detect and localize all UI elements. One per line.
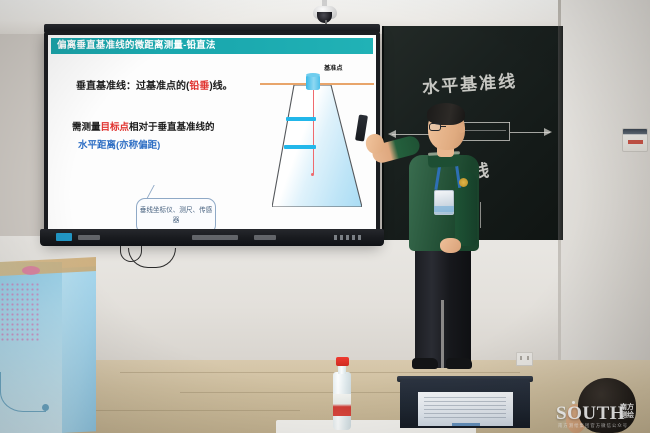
presenter-hair [427,103,465,125]
measure-suffix: 相对于垂直基准线的 [129,122,215,133]
watermark-accent-dot [572,401,575,404]
poster-dot-pattern [0,282,40,342]
watermark: SOUTH 南方 测绘 南方测绘集团官方微信公众号 [556,400,648,430]
right-wall [560,0,650,368]
chalk-sketch-line [480,202,481,228]
watermark-brand-cn: 南方 测绘 [620,404,634,419]
water-bottle-cap [336,357,349,366]
poster-dot-graphic [42,404,49,411]
slide-text-definition: 垂直基准线：过基准点的(铅垂)线。 [76,77,233,92]
watermark-tagline: 南方测绘集团官方微信公众号 [558,423,628,429]
chalk-arrowhead [544,128,552,136]
glasses-icon [429,123,441,131]
laptop-document-content [424,397,506,421]
definition-prefix: 垂直基准线：过基准点的( [76,81,189,92]
watermark-brand: SOUTH [556,403,625,425]
plumb-endpoint [311,173,314,176]
plumb-line [313,88,314,174]
floor-seam [60,410,300,411]
shirt-logo-icon [459,178,468,187]
chalk-arrowhead [388,130,396,138]
measurement-bar [286,117,316,121]
classroom-photo: 水平基准线 基准线 叫 偏离垂直基准线的微距离测量-铅直法 垂直基准线：过基准点… [0,0,650,433]
slide-title: 偏离垂直基准线的微距离测量-铅直法 [51,38,373,54]
measure-prefix: 需测量 [72,122,101,133]
slide-text-measure: 需测量目标点相对于垂直基准线的 [72,119,215,133]
poster-arc-graphic [0,372,46,412]
outlet-slot [527,356,529,360]
presenter-leg-gap [441,300,444,368]
presenter-hand [440,238,461,253]
measure-highlight: 目标点 [101,122,130,133]
laptop-screen-accent [452,423,480,426]
dam-plumb-diagram: 基准点 [260,57,374,235]
chalk-sketch-line [509,122,510,140]
definition-highlight: 铅垂 [189,81,209,92]
watermark-cn-line2: 测绘 [620,412,634,420]
definition-suffix: )线。 [209,81,232,92]
watermark-cn-line1: 南方 [620,404,634,412]
anchor-point-marker [306,75,320,90]
outlet-slot [520,356,522,360]
blackboard-text-line1: 水平基准线 [421,67,518,99]
floor-seam [120,372,520,373]
callout-pointer [146,185,169,199]
poster-accent [22,266,40,275]
fire-alarm-indicator [628,140,643,144]
bezel-brand-badge [56,233,72,241]
id-badge-stripe [434,206,454,212]
bezel-indicator-lights [334,235,364,240]
blackboard-frame [558,26,563,240]
bezel-logo [254,235,276,240]
slide-surface: 偏离垂直基准线的微距离测量-铅直法 垂直基准线：过基准点的(铅垂)线。 需测量目… [48,35,376,239]
wall-outlet [516,352,533,366]
bezel-logo [192,235,238,240]
water-bottle-label [333,394,351,416]
presenter-shoe [412,358,438,369]
presenter-shoe [446,358,472,369]
bezel-logo [78,235,100,240]
glasses-bridge [441,126,446,127]
presenter-ear [458,124,465,133]
poster-stand-side [62,266,96,433]
measurement-bar [284,145,316,149]
diagram-anchor-label: 基准点 [324,63,343,72]
slide-text-distance: 水平距离(亦称偏距) [78,137,160,151]
